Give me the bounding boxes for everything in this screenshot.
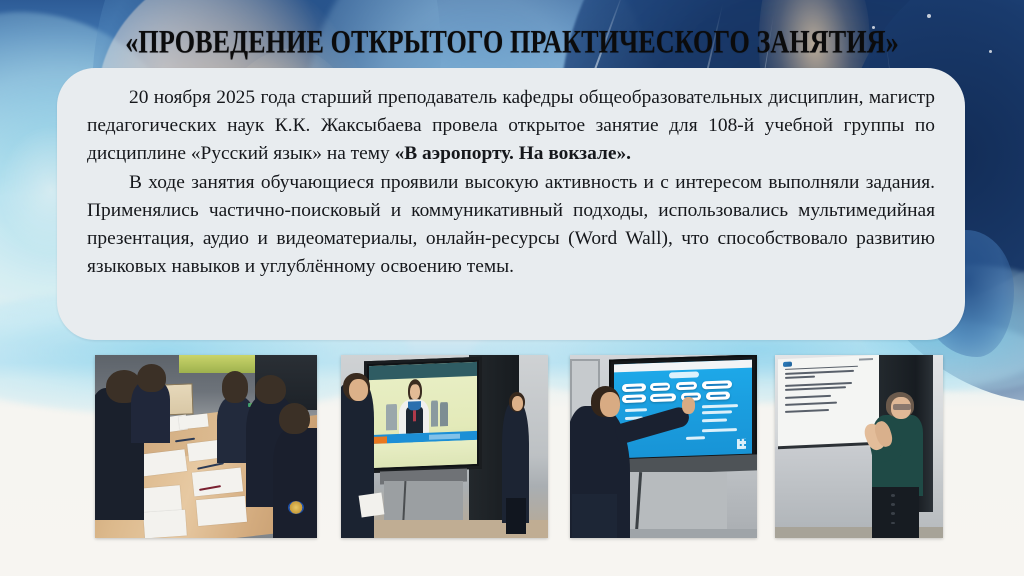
paragraph-2-run-1: В ходе занятия обучающиеся проявили высо…: [87, 172, 935, 278]
slide-title: «ПРОВЕДЕНИЕ ОТКРЫТОГО ПРАКТИЧЕСКОГО ЗАНЯ…: [8, 23, 1017, 61]
photo-video-airport-scene: [341, 355, 548, 538]
paragraph-2: В ходе занятия обучающиеся проявили высо…: [87, 169, 935, 282]
text-card: 20 ноября 2025 года старший преподавател…: [57, 68, 965, 340]
photo-interactive-board-wordwall: [570, 355, 757, 538]
photo-classroom-group-work: [95, 355, 317, 538]
paragraph-1: 20 ноября 2025 года старший преподавател…: [87, 84, 935, 169]
slide-root: «ПРОВЕДЕНИЕ ОТКРЫТОГО ПРАКТИЧЕСКОГО ЗАНЯ…: [0, 0, 1024, 576]
ink-speck-1: [927, 14, 931, 18]
paragraph-1-lesson-topic: «В аэропорту. На вокзале».: [395, 143, 631, 164]
photo-teacher-presentation: [775, 355, 943, 538]
